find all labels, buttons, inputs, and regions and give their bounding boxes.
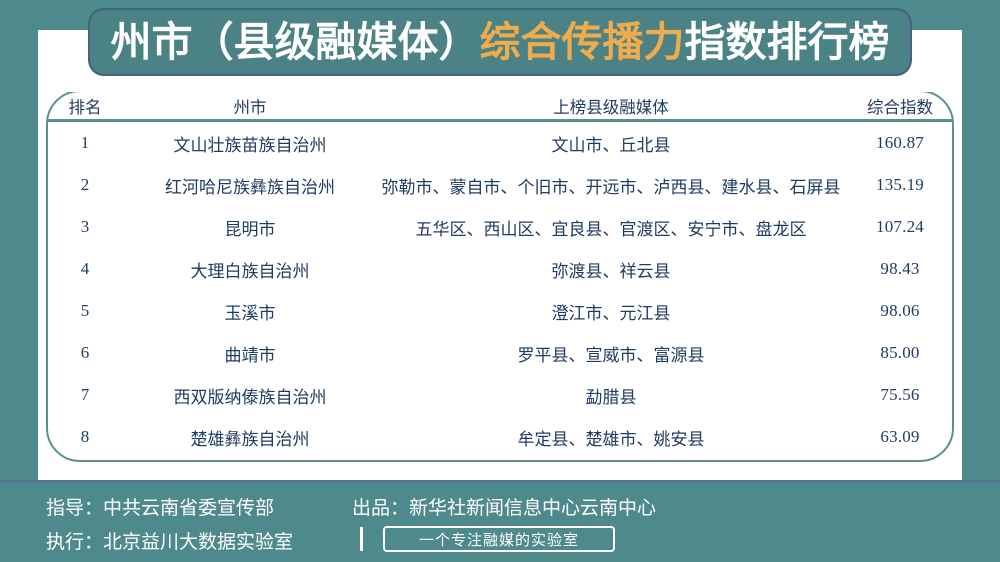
table-row: 6 曲靖市 罗平县、宣威市、富源县 85.00	[46, 332, 954, 374]
cell-index: 98.43	[846, 248, 954, 290]
table-row: 5 玉溪市 澄江市、元江县 98.06	[46, 290, 954, 332]
cell-rank: 3	[46, 206, 124, 248]
cell-index: 135.19	[846, 164, 954, 206]
cell-rank: 8	[46, 416, 124, 458]
title-part-two: 指数排行榜	[685, 19, 890, 65]
cell-city: 昆明市	[124, 206, 376, 248]
table-header: 排名 州市 上榜县级融媒体 综合指数	[46, 90, 954, 122]
ranking-table: 排名 州市 上榜县级融媒体 综合指数 1 文山壮族苗族自治州 文山市、丘北县 1…	[46, 90, 954, 458]
footer-divider	[360, 527, 363, 551]
cell-city: 文山壮族苗族自治州	[124, 122, 376, 164]
cell-media: 文山市、丘北县	[376, 122, 846, 164]
cell-media: 五华区、西山区、宜良县、官渡区、安宁市、盘龙区	[376, 206, 846, 248]
cell-media: 牟定县、楚雄市、姚安县	[376, 416, 846, 458]
cell-rank: 4	[46, 248, 124, 290]
cell-city: 红河哈尼族彝族自治州	[124, 164, 376, 206]
table-row: 1 文山壮族苗族自治州 文山市、丘北县 160.87	[46, 122, 954, 164]
table-header-row: 排名 州市 上榜县级融媒体 综合指数	[46, 90, 954, 122]
cell-index: 63.09	[846, 416, 954, 458]
cell-city: 大理白族自治州	[124, 248, 376, 290]
page-title: 州市（县级融媒体）综合传播力指数排行榜	[111, 22, 890, 63]
footer-produce-text: 出品：新华社新闻信息中心云南中心	[352, 493, 656, 520]
cell-media: 弥渡县、祥云县	[376, 248, 846, 290]
cell-media: 罗平县、宣威市、富源县	[376, 332, 846, 374]
cell-city: 西双版纳傣族自治州	[124, 374, 376, 416]
footer-execute-text: 执行：北京益川大数据实验室	[46, 527, 293, 554]
lab-slogan-badge: 一个专注融媒的实验室	[383, 526, 615, 552]
cell-rank: 6	[46, 332, 124, 374]
table-row: 3 昆明市 五华区、西山区、宜良县、官渡区、安宁市、盘龙区 107.24	[46, 206, 954, 248]
cell-media: 弥勒市、蒙自市、个旧市、开远市、泸西县、建水县、石屏县	[376, 164, 846, 206]
cell-rank: 7	[46, 374, 124, 416]
column-header-rank: 排名	[46, 90, 124, 122]
column-header-index: 综合指数	[846, 90, 954, 122]
cell-city: 曲靖市	[124, 332, 376, 374]
cell-index: 85.00	[846, 332, 954, 374]
cell-rank: 5	[46, 290, 124, 332]
cell-index: 98.06	[846, 290, 954, 332]
cell-media: 勐腊县	[376, 374, 846, 416]
table-row: 8 楚雄彝族自治州 牟定县、楚雄市、姚安县 63.09	[46, 416, 954, 458]
table-body: 1 文山壮族苗族自治州 文山市、丘北县 160.87 2 红河哈尼族彝族自治州 …	[46, 122, 954, 458]
title-banner: 州市（县级融媒体）综合传播力指数排行榜	[88, 8, 912, 76]
cell-rank: 1	[46, 122, 124, 164]
footer-guide-text: 指导：中共云南省委宣传部	[46, 493, 274, 520]
cell-city: 玉溪市	[124, 290, 376, 332]
ranking-poster: 州市（县级融媒体）综合传播力指数排行榜 排名 州市 上榜县级融媒体 综合指数 1…	[0, 0, 1000, 562]
cell-media: 澄江市、元江县	[376, 290, 846, 332]
column-header-city: 州市	[124, 90, 376, 122]
title-part-one: 州市（县级融媒体）	[111, 19, 480, 65]
cell-index: 107.24	[846, 206, 954, 248]
cell-rank: 2	[46, 164, 124, 206]
cell-index: 160.87	[846, 122, 954, 164]
table-row: 4 大理白族自治州 弥渡县、祥云县 98.43	[46, 248, 954, 290]
table-row: 7 西双版纳傣族自治州 勐腊县 75.56	[46, 374, 954, 416]
cell-index: 75.56	[846, 374, 954, 416]
cell-city: 楚雄彝族自治州	[124, 416, 376, 458]
column-header-media: 上榜县级融媒体	[376, 90, 846, 122]
title-accent: 综合传播力	[480, 19, 685, 65]
footer: 指导：中共云南省委宣传部 出品：新华社新闻信息中心云南中心 执行：北京益川大数据…	[0, 483, 1000, 562]
table-row: 2 红河哈尼族彝族自治州 弥勒市、蒙自市、个旧市、开远市、泸西县、建水县、石屏县…	[46, 164, 954, 206]
